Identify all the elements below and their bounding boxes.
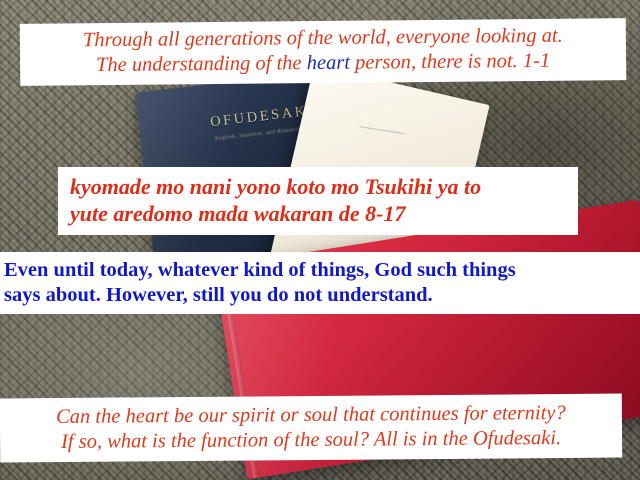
quote-translation-top-line-1-seg-1: Through all generations of the world, ev… — [83, 25, 563, 52]
closing-question-line-2-seg-1: If so, what is the function of the soul?… — [61, 427, 561, 453]
english-translation-line-1: Even until today, whatever kind of thing… — [4, 258, 640, 283]
quote-translation-top-line-2: The understanding of the heart person, t… — [26, 48, 620, 79]
closing-question-line-2: If so, what is the function of the soul?… — [6, 426, 616, 456]
romanized-verse-line-1-seg-1: kyomade mo nani yono koto mo Tsukihi ya … — [70, 174, 481, 199]
booklet-pencil-mark — [359, 126, 405, 134]
text-block-closing-question: Can the heart be our spirit or soul that… — [0, 394, 622, 463]
english-translation-line-1-seg-1: Even until today, whatever kind of thing… — [4, 259, 516, 281]
quote-translation-top-line-2-seg-3: person, there is not. 1-1 — [350, 50, 550, 74]
romanized-verse-line-1: kyomade mo nani yono koto mo Tsukihi ya … — [70, 174, 578, 201]
romanized-verse-line-2-seg-1: yute aredomo mada wakaran de 8-17 — [70, 201, 406, 226]
text-block-romanized-verse: kyomade mo nani yono koto mo Tsukihi ya … — [58, 167, 578, 235]
quote-translation-top-line-2-seg-1: The understanding of the — [96, 52, 307, 76]
quote-translation-top-line-2-seg-2: heart — [307, 52, 350, 74]
presentation-slide: OFUDESAKI English, Japanese, and Romaniz… — [0, 0, 640, 480]
text-block-quote-translation-top: Through all generations of the world, ev… — [20, 18, 627, 86]
closing-question-line-1-seg-1: Can the heart be our spirit or soul that… — [56, 402, 566, 428]
romanized-verse-line-2: yute aredomo mada wakaran de 8-17 — [70, 201, 578, 228]
english-translation-line-2-seg-1: says about. However, still you do not un… — [4, 284, 433, 306]
text-block-english-translation: Even until today, whatever kind of thing… — [0, 252, 640, 314]
english-translation-line-2: says about. However, still you do not un… — [4, 283, 640, 308]
